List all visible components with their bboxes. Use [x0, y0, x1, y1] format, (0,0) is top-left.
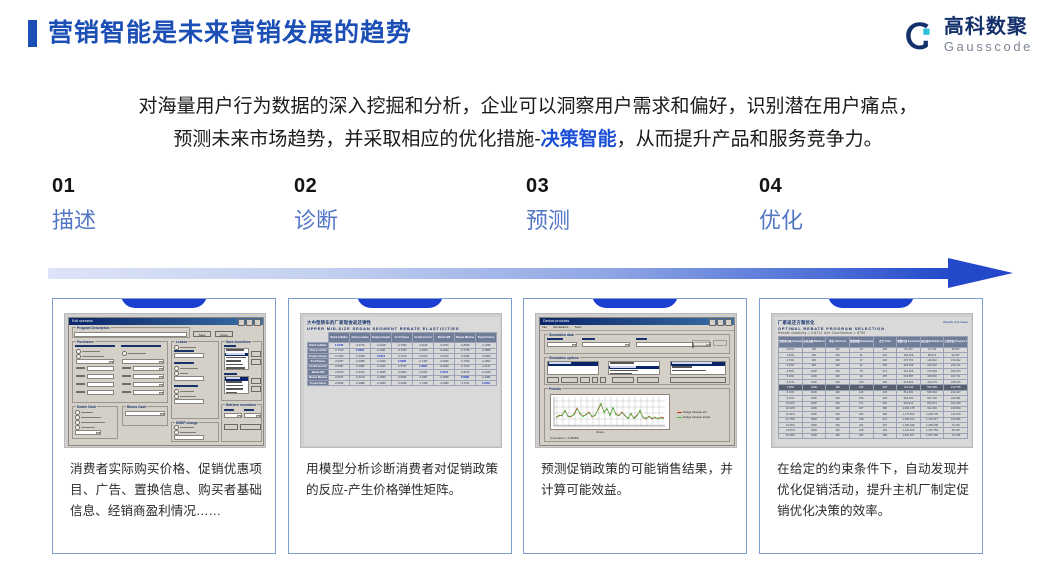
rebate-cell: 1,534.487 [897, 433, 921, 438]
card-caption: 在给定的约束条件下，自动发现并优化促销活动，提升主机厂制定促销优化决策的效率。 [777, 459, 969, 522]
rebate-col-header: 增量利润 Incremental Gross Revenue [897, 337, 921, 347]
table-header-row: Buick LeSabreChevy LuminaDodge IntrepidF… [308, 333, 497, 343]
legend-actual: Dodge Caravan actual [677, 416, 710, 420]
rebate-cell: 1,557.286 [920, 433, 944, 438]
matrix-cell: -0.2380 [434, 380, 455, 385]
label-60mo-b [122, 391, 131, 393]
card-caption: 消费者实际购买价格、促销优惠项目、广告、置换信息、购买者基础信息、经销商盈利情况… [70, 459, 262, 522]
scenario-listbox[interactable] [547, 361, 599, 375]
clear-all-models-button[interactable] [251, 359, 261, 365]
radio-not-offered[interactable] [122, 351, 146, 356]
select-all-models-button[interactable] [251, 351, 261, 357]
rebate-col-header: 增量销量 Incremental [849, 337, 873, 347]
simulation-dialog: Deduct products File Simulations Tools S… [539, 317, 735, 446]
menu-bar[interactable]: File Simulations Tools [540, 325, 734, 331]
matrix-col-header: Mazda 626 [434, 333, 455, 343]
menu-file[interactable]: File [542, 325, 547, 330]
legacy-dialog: Edit scenario Program Description Save C… [68, 317, 264, 446]
arrow-shaft [48, 268, 952, 279]
msrp-change-input[interactable] [174, 435, 204, 440]
retrieve-model-combo[interactable] [224, 413, 242, 418]
matrix-cell: -0.5645 [329, 380, 350, 385]
term-60-input[interactable] [87, 390, 114, 395]
term-48-input[interactable] [87, 382, 114, 387]
group-label: Purchases [76, 340, 95, 344]
matrix-col-header: Toyota Camry [476, 333, 497, 343]
matrix-col-header: Nissan Maxima [455, 333, 476, 343]
label-vehicle-class [547, 338, 563, 340]
rebate-cell: 458 [873, 433, 897, 438]
window-controls[interactable] [238, 319, 261, 326]
label-48mo [76, 383, 85, 385]
matrix-col-header: Buick LeSabre [329, 333, 350, 343]
term-24-rate-combo[interactable] [133, 366, 164, 371]
rebate-subtitle: Rebate elasticity = 0.8712 Unit Contribu… [778, 331, 968, 335]
table-corner-note: Weekly Unit Sales [943, 320, 968, 324]
step-02: 02 诊断 [294, 176, 494, 232]
rebate-cell: 265 [849, 433, 873, 438]
term-60-rate-combo[interactable] [133, 390, 164, 395]
residual-subsidy-input[interactable] [174, 399, 204, 404]
label-36mo-b [122, 375, 131, 377]
rate-subsidy-input[interactable] [174, 376, 204, 381]
card-tab [357, 298, 443, 308]
restore-environment-button[interactable] [240, 424, 261, 430]
clear-all-regions-button[interactable] [251, 386, 261, 392]
card-caption: 用模型分析诊断消费者对促销政策的反应-产生价格弹性矩阵。 [306, 459, 498, 501]
matrix-diagonal-cell: 4.2561 [476, 380, 497, 385]
matrix-cell: -0.7371 [455, 380, 476, 385]
window-controls[interactable] [709, 319, 732, 326]
lead-line-2a: 预测未来市场趋势，并采取相应的优化措施- [173, 129, 540, 150]
rebate-col-header: 返还成本 Rebate Cost [920, 337, 944, 347]
program-description-input[interactable] [74, 332, 187, 337]
menu-simulations[interactable]: Simulations [553, 325, 569, 330]
group-label: Retrieve incentives [225, 403, 257, 407]
matrix-cell: -0.1988 [350, 380, 371, 385]
list-item[interactable] [609, 373, 659, 375]
select-all-button[interactable] [612, 377, 634, 383]
matrix-col-header: Honda Accord [413, 333, 434, 343]
step-label: 优化 [759, 210, 959, 232]
dealer-cash-combo[interactable] [75, 430, 101, 435]
rebate-table-panel: Weekly Unit Sales 厂家返还方案优化 OPTIMAL REBAT… [775, 317, 971, 446]
move-up-button[interactable] [592, 377, 598, 383]
print-button[interactable] [713, 340, 727, 346]
label-segment [582, 338, 595, 340]
label-region [636, 338, 647, 340]
step-label: 预测 [526, 210, 726, 232]
minimize-icon[interactable] [709, 319, 716, 326]
list-item-selected[interactable] [548, 362, 598, 366]
lead-highlight: 决策智能 [541, 129, 617, 150]
group-label: Program Description [76, 326, 111, 330]
label-region [244, 409, 254, 411]
model-listbox[interactable] [224, 348, 249, 370]
list-item[interactable] [225, 367, 248, 370]
lead-paragraph: 对海量用户行为数据的深入挖掘和分析，企业可以洞察用户需求和偏好，识别潜在用户痛点… [52, 90, 1004, 156]
term-36-rate-combo[interactable] [133, 374, 164, 379]
card-optimize[interactable]: Weekly Unit Sales 厂家返还方案优化 OPTIMAL REBAT… [759, 298, 983, 554]
rebate-cell: -22.789 [944, 433, 968, 438]
label-residual-subsidy [174, 385, 198, 387]
term-48-rate-combo[interactable] [133, 382, 164, 387]
matrix-title-en: UPPER MID-SIZE SEDAN SEGMENT REBATE ELAS… [307, 326, 497, 331]
card-tab [592, 298, 678, 308]
matrix-cell: -0.6189 [392, 380, 413, 385]
label-models [224, 345, 236, 347]
x-axis-label: Weeks [596, 431, 604, 434]
rebate-col-header: 方案利润 Program Profit [944, 337, 968, 347]
step-number: 04 [759, 176, 959, 196]
group-label: MSRP change [175, 421, 199, 425]
dialog-titlebar: Deduct products [540, 318, 734, 325]
label-36mo [76, 375, 85, 377]
vehicle-class-combo[interactable] [547, 342, 577, 347]
rebate-table: 消费者价格 Consumer Price返还金额 Rebate $单位 Unit… [778, 336, 968, 439]
select-all-regions-button[interactable] [251, 378, 261, 384]
step-01: 01 描述 [52, 176, 252, 232]
save-button[interactable]: Save [193, 331, 211, 337]
add-button[interactable] [547, 377, 559, 383]
logo-cn: 高科数聚 [944, 17, 1033, 38]
step-03: 03 预测 [526, 176, 726, 232]
label-48mo-b [122, 383, 131, 385]
card-tab [828, 298, 914, 308]
page-header: 营销智能是未来营销发展的趋势 高科数聚 Gausscode [0, 0, 1051, 72]
label-24mo-b [122, 367, 131, 369]
elasticity-matrix: Buick LeSabreChevy LuminaDodge IntrepidF… [307, 332, 497, 386]
group-label: Leases [175, 340, 188, 344]
step-number: 03 [526, 176, 726, 196]
model-listbox[interactable] [608, 361, 660, 375]
bonus-cash-combo[interactable] [125, 411, 165, 416]
elasticity-table-panel: 大中型轿车的厂家现金返还弹性 UPPER MID-SIZE SEDAN SEGM… [304, 317, 500, 446]
card-predict[interactable]: Deduct products File Simulations Tools S… [523, 298, 747, 554]
group-label: Dealer Cash [76, 405, 97, 409]
step-label: 诊断 [294, 210, 494, 232]
card-row: Edit scenario Program Description Save C… [52, 298, 1000, 556]
minimize-icon[interactable] [238, 319, 245, 326]
dialog-title: Edit scenario [72, 319, 93, 323]
retrieve-region-combo[interactable] [244, 413, 261, 418]
menu-tools[interactable]: Tools [574, 325, 581, 330]
card-diagnose[interactable]: 大中型轿车的厂家现金返还弹性 UPPER MID-SIZE SEDAN SEGM… [288, 298, 512, 554]
thumbnail-optimal-rebate-table: Weekly Unit Sales 厂家返还方案优化 OPTIMAL REBAT… [771, 313, 973, 448]
matrix-cell: -1.7436 [413, 380, 434, 385]
step-label: 描述 [52, 210, 252, 232]
label-regions [224, 373, 237, 375]
card-describe[interactable]: Edit scenario Program Description Save C… [52, 298, 276, 554]
label-rate-subsidy [174, 362, 194, 364]
group-label: Bonus Cash [126, 405, 147, 409]
purchase-type-combo[interactable] [122, 359, 164, 364]
group-label: Simulation options [548, 356, 580, 360]
lead-line-2b: ，从而提升产品和服务竞争力。 [617, 129, 883, 150]
maximize-icon[interactable] [246, 319, 253, 326]
step-labels: 01 描述 02 诊断 03 预测 04 优化 [52, 176, 1012, 254]
list-item[interactable] [671, 369, 725, 373]
step-number: 02 [294, 176, 494, 196]
card-caption: 预测促销政策的可能销售结果，并计算可能效益。 [541, 459, 733, 501]
save-data-button[interactable] [692, 340, 710, 346]
rebate-col-header: 单位 Unit Cost [826, 337, 850, 347]
segment-combo[interactable] [582, 342, 630, 347]
label-rebate-combo [121, 345, 161, 347]
remove-button[interactable] [561, 377, 578, 383]
rebate-col-header: 返还金额 Rebate $ [802, 337, 826, 347]
rebate-col-header: 合计 Total [873, 337, 897, 347]
logo-en: Gausscode [944, 39, 1033, 55]
lead-line-1: 对海量用户行为数据的深入挖掘和分析，企业可以洞察用户需求和偏好，识别潜在用户痛点… [138, 96, 917, 117]
graph-button[interactable] [670, 377, 726, 383]
rebate-cell: 15.48% [779, 433, 803, 438]
list-item[interactable] [225, 391, 248, 394]
arrow-head-icon [948, 258, 1013, 288]
lease-cash-input[interactable] [174, 353, 204, 358]
rebate-cell: 190 [826, 433, 850, 438]
rebate-cell: 3400 [802, 433, 826, 438]
matrix-col-header: Ford Taurus [392, 333, 413, 343]
logo-text: 高科数聚 Gausscode [944, 17, 1033, 55]
step-number: 01 [52, 176, 252, 196]
table-row: Toyota Camry-0.5645-0.1988-0.1660-0.6189… [308, 380, 497, 385]
group-bonus-cash: Bonus Cash [122, 406, 168, 426]
group-label: Save incentives [225, 340, 252, 344]
matrix-cell: -0.1660 [371, 380, 392, 385]
maximize-icon[interactable] [717, 319, 724, 326]
step-04: 04 优化 [759, 176, 959, 232]
dialog-titlebar: Edit scenario [69, 318, 263, 325]
output-listbox[interactable] [670, 361, 726, 375]
group-label: Simulation data [548, 333, 575, 337]
thumbnail-windows-dialog: Edit scenario Program Description Save C… [64, 313, 266, 448]
group-label: Periods [548, 387, 562, 391]
page-title: 营销智能是未来营销发展的趋势 [48, 21, 412, 46]
term-24-input[interactable] [87, 366, 114, 371]
label-24mo [76, 367, 85, 369]
clear-all-button[interactable] [637, 377, 659, 383]
clear-button[interactable] [224, 424, 238, 430]
title-accent-bar [28, 20, 37, 47]
matrix-corner-cell [308, 333, 329, 343]
thumbnail-elasticity-matrix: 大中型轿车的厂家现金返还弹性 UPPER MID-SIZE SEDAN SEGM… [300, 313, 502, 448]
label-model [224, 409, 234, 411]
rebate-col-header: 消费者价格 Consumer Price [779, 337, 803, 347]
title-row: 营销智能是未来营销发展的趋势 [28, 20, 412, 47]
close-icon[interactable] [254, 319, 261, 326]
matrix-col-header: Chevy Lumina [350, 333, 371, 343]
progress-arrow [48, 258, 1013, 288]
legend-sim: Dodge Caravan sim [677, 411, 707, 415]
label-lease-cash [174, 350, 194, 352]
edit-button[interactable] [580, 377, 590, 383]
label-rebate-apr [75, 345, 115, 347]
thumbnail-simulation-window: Deduct products File Simulations Tools S… [535, 313, 737, 448]
gausscode-g-icon [903, 19, 937, 53]
correlation-note: (Correlation = 0.98386) [550, 436, 579, 440]
move-down-button[interactable] [600, 377, 606, 383]
brand-logo: 高科数聚 Gausscode [903, 17, 1033, 55]
term-36-input[interactable] [87, 374, 114, 379]
purchase-amount-combo[interactable] [76, 359, 114, 364]
label-60mo [76, 391, 85, 393]
matrix-row-header: Toyota Camry [308, 380, 329, 385]
dialog-title: Deduct products [543, 319, 569, 323]
matrix-col-header: Dodge Intrepid [371, 333, 392, 343]
card-tab [121, 298, 207, 308]
table-row: 15.48%34001902654581,534.4871,557.286-22… [779, 433, 968, 438]
region-listbox[interactable] [224, 376, 249, 394]
table-header-row: 消费者价格 Consumer Price返还金额 Rebate $单位 Unit… [779, 337, 968, 347]
close-button[interactable]: Close [215, 331, 233, 337]
simulation-line-chart [550, 394, 670, 430]
close-icon[interactable] [725, 319, 732, 326]
